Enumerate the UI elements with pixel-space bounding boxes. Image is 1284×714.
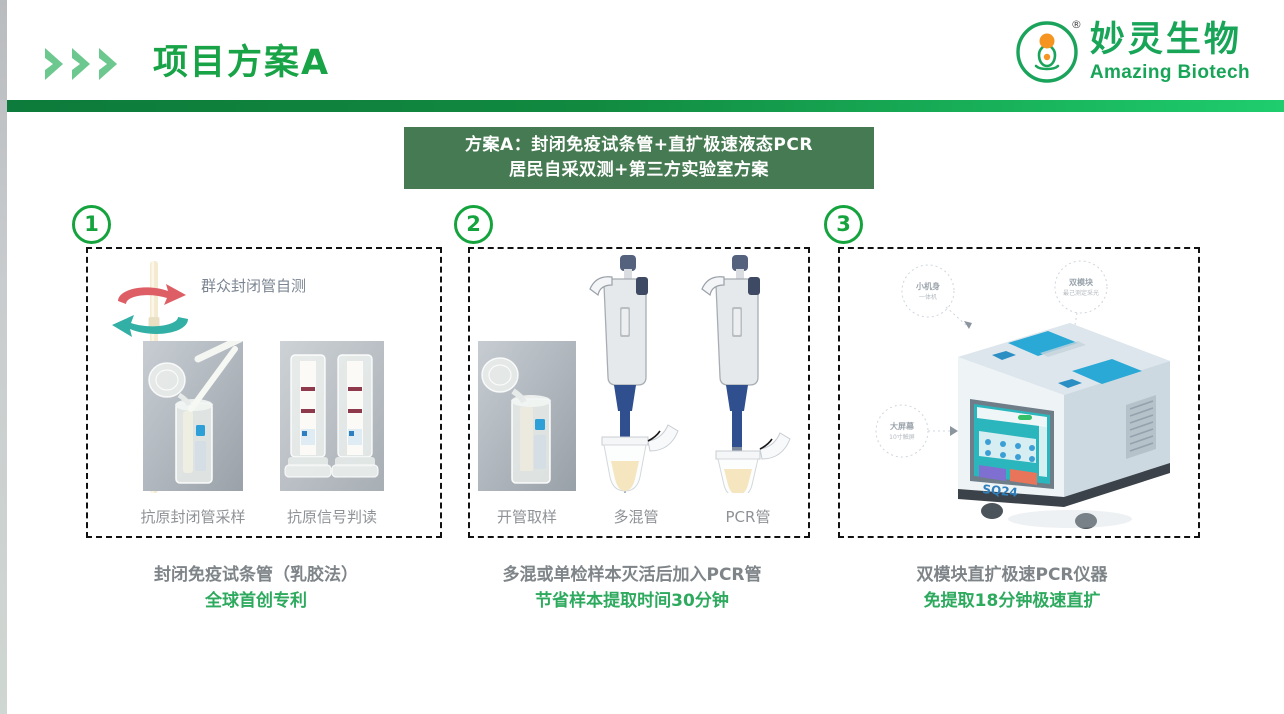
device-callout-3-main: 大屏幕: [876, 421, 928, 432]
step-1-footer-bottom: 全球首创专利: [66, 589, 446, 615]
triple-chevron-right-icon: [43, 46, 129, 82]
page-title: 项目方案A: [153, 34, 330, 85]
step-2-photo-1-caption: 开管取样: [470, 506, 584, 527]
pipette-multimix-tube-icon: [580, 255, 692, 493]
step-2-footer-bottom: 节省样本提取时间30分钟: [448, 589, 816, 615]
open-tube-sampling-photo: [478, 341, 576, 491]
step-1-footer-top: 封闭免疫试条管（乳胶法）: [66, 563, 446, 589]
step-1-photo-1-caption: 抗原封闭管采样: [123, 506, 263, 527]
device-callout-1-main: 小机身: [902, 281, 954, 292]
device-callout-2: 双模块 最己测定采光: [1055, 277, 1107, 297]
header-divider-bar: [7, 100, 1284, 112]
steps-container: 1 群众封闭管自测: [0, 205, 1284, 645]
step-3-footer-top: 双模块直扩极速PCR仪器: [818, 563, 1206, 589]
slide-header: 项目方案A ® 妙灵生物 Amazing Biotech: [7, 0, 1284, 100]
step-2-footer: 多混或单检样本灭活后加入PCR管 节省样本提取时间30分钟: [448, 563, 816, 614]
antigen-sampling-photo: [143, 341, 243, 491]
registered-trademark-icon: ®: [1071, 18, 1082, 31]
device-callout-2-main: 双模块: [1055, 277, 1107, 288]
step-3-badge: 3: [824, 205, 863, 244]
step-2-footer-top: 多混或单检样本灭活后加入PCR管: [448, 563, 816, 589]
step-1-photo-2-caption: 抗原信号判读: [262, 506, 402, 527]
banner-line-2: 居民自采双测+第三方实验室方案: [509, 158, 769, 183]
step-3-footer-bottom: 免提取18分钟极速直扩: [818, 589, 1206, 615]
step-1-badge: 1: [72, 205, 111, 244]
step-2-photo-2-caption: 多混管: [582, 506, 690, 527]
device-callout-3: 大屏幕 10寸触屏: [876, 421, 928, 441]
device-callout-1-sub: 一体机: [902, 292, 954, 301]
device-callout-1: 小机身 一体机: [902, 281, 954, 301]
step-3-panel: SQ24 小机身 一体机 双模块 最己测定采光 大屏幕 10寸触屏: [838, 247, 1200, 538]
step-1-footer: 封闭免疫试条管（乳胶法） 全球首创专利: [66, 563, 446, 614]
pipette-pcr-tube-icon: [692, 255, 804, 493]
pcr-instrument-photo: SQ24: [840, 249, 1194, 532]
logo-name-cn: 妙灵生物: [1090, 23, 1250, 58]
slide-root: 项目方案A ® 妙灵生物 Amazing Biotech 方案A：封闭免疫试条管…: [0, 0, 1284, 714]
logo-name-en: Amazing Biotech: [1090, 63, 1250, 82]
step-2-photo-3-caption: PCR管: [694, 506, 802, 527]
scheme-banner: 方案A：封闭免疫试条管+直扩极速液态PCR 居民自采双测+第三方实验室方案: [404, 127, 874, 189]
company-logo: ® 妙灵生物 Amazing Biotech: [1014, 16, 1250, 88]
banner-line-1: 方案A：封闭免疫试条管+直扩极速液态PCR: [465, 133, 813, 158]
device-callout-3-sub: 10寸触屏: [876, 432, 928, 441]
flask-plant-circle-logo-icon: ®: [1014, 19, 1080, 85]
step-1-panel-title: 群众封闭管自测: [201, 275, 306, 296]
step-2-badge: 2: [454, 205, 493, 244]
antigen-result-photo: [280, 341, 384, 491]
step-3-footer: 双模块直扩极速PCR仪器 免提取18分钟极速直扩: [818, 563, 1206, 614]
step-1-panel: 群众封闭管自测: [86, 247, 442, 538]
device-callout-2-sub: 最己测定采光: [1055, 288, 1107, 297]
step-2-panel: 开管取样: [468, 247, 810, 538]
